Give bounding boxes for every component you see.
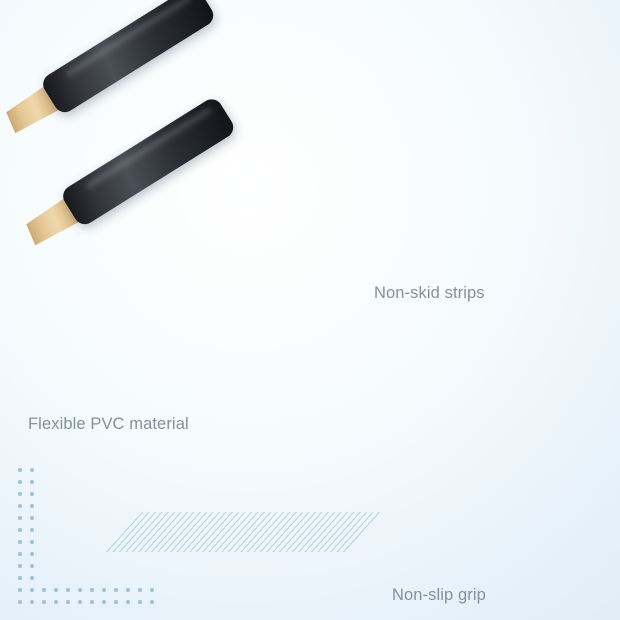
grid-dot [66,600,70,604]
grid-dot [18,468,22,472]
grid-dot [18,492,22,496]
grid-dot [30,552,34,556]
grid-dot [102,588,106,592]
grid-dot [150,600,154,604]
grid-dot [30,480,34,484]
grid-dot [138,588,142,592]
grid-dot [42,588,46,592]
grid-dot [30,528,34,532]
grid-dot [30,492,34,496]
grid-dot [18,576,22,580]
grid-dot [150,588,154,592]
feature-image-non-slip-grip [0,0,282,282]
grid-dot [18,600,22,604]
grid-dot [54,588,58,592]
grid-dot [54,600,58,604]
grid-dot [90,588,94,592]
caption-non-skid-strips: Non-skid strips [374,284,485,303]
decorative-diagonal-hatch [106,512,382,552]
product-details-infographic: Product Details Flexible PVC material No… [0,0,620,620]
grid-dot [18,480,22,484]
grid-dot [18,564,22,568]
grid-dot [42,600,46,604]
grid-dot [78,600,82,604]
grid-dot [30,540,34,544]
grid-dot [18,540,22,544]
grid-dot [18,516,22,520]
grid-dot [30,504,34,508]
grid-dot [30,564,34,568]
grid-dot [30,588,34,592]
grid-dot [18,528,22,532]
grid-dot [138,600,142,604]
grid-dot [66,588,70,592]
grid-dot [114,588,118,592]
grid-dot [30,600,34,604]
caption-pvc-material: Flexible PVC material [28,415,189,434]
grid-dot [114,600,118,604]
grid-dot [18,552,22,556]
grid-dot [18,504,22,508]
caption-non-slip-grip: Non-slip grip [392,586,486,605]
grid-dot [18,588,22,592]
grid-dot [126,600,130,604]
grid-dot [126,588,130,592]
grid-dot [30,516,34,520]
grid-dot [90,600,94,604]
grid-dot [30,576,34,580]
grid-dot [78,588,82,592]
grid-dot [102,600,106,604]
grid-dot [30,468,34,472]
